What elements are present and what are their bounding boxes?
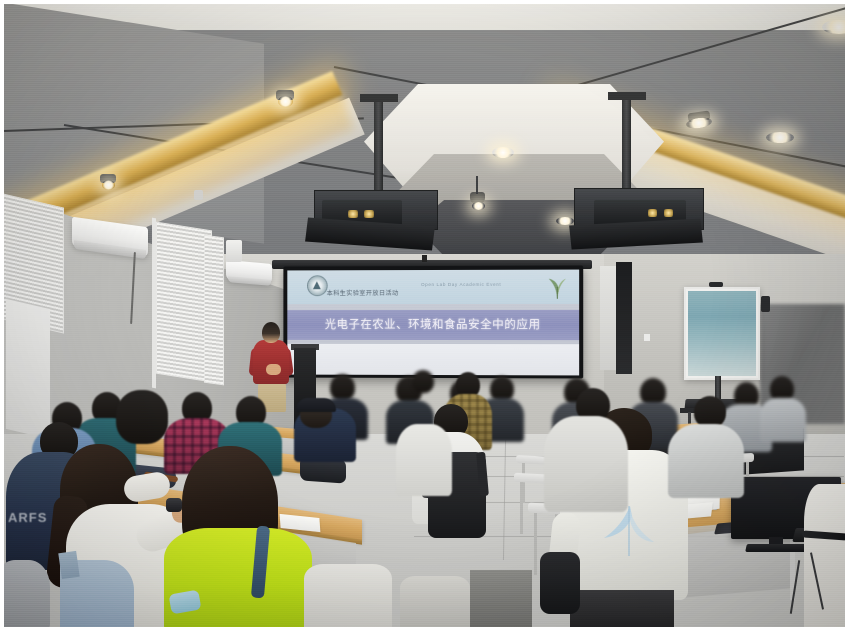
presenter-hands xyxy=(266,364,281,375)
tshirt-graphic-icon xyxy=(600,504,656,558)
monitor-stand-base xyxy=(745,544,809,552)
webcam-icon xyxy=(709,282,723,287)
projector-left-pole xyxy=(374,99,383,199)
wall-display-side-speaker xyxy=(761,296,770,312)
projector-left-lens-1 xyxy=(348,210,358,218)
presenter-shirt xyxy=(253,340,289,384)
spotlight-2 xyxy=(102,180,115,190)
student-body-far-left-bottom xyxy=(4,560,50,627)
green-leaf-emblem-icon xyxy=(545,273,569,299)
photograph-root: Open Lab Day Academic Event 本科生实验室开放日活动 … xyxy=(0,0,849,631)
student-body-yellow-hoodie xyxy=(164,528,312,627)
spotlight-4-hex-lower xyxy=(556,217,574,225)
door-frame-dark xyxy=(616,262,632,374)
student-body-b8 xyxy=(760,398,806,442)
student-body-right-edge xyxy=(668,424,744,498)
projector-right-pole xyxy=(622,99,631,199)
spotlight-1 xyxy=(278,96,293,107)
projection-screen-mount xyxy=(422,255,427,262)
slide-title-chinese: 光电子在农业、环境和食品安全中的应用 xyxy=(287,311,579,339)
spotlight-5-pendant xyxy=(472,202,485,210)
spotlight-8-right-edge xyxy=(766,132,794,143)
student-body-center-bottom-1 xyxy=(304,564,392,627)
wall-display-screen xyxy=(688,291,756,376)
overalls-strap xyxy=(58,551,79,579)
university-emblem-icon xyxy=(307,275,328,296)
student-head-b4 xyxy=(412,370,434,393)
wall-switch-icon xyxy=(644,334,650,341)
bag-on-lap xyxy=(540,552,580,614)
wall-mounted-display[interactable] xyxy=(684,287,760,380)
projector-left-lens-2 xyxy=(364,210,374,218)
projector-left-ceiling-plate xyxy=(360,94,398,102)
projector-right-ceiling-plate xyxy=(608,92,646,100)
student-shorts-white-tshirt xyxy=(570,590,674,627)
ceiling-sensor-icon xyxy=(194,190,203,200)
wall-speaker xyxy=(226,240,242,262)
stool-2-leg-a xyxy=(520,482,523,534)
student-head-b1 xyxy=(330,374,355,401)
photo-frame: Open Lab Day Academic Event 本科生实验室开放日活动 … xyxy=(4,4,845,627)
stool-3-leg-a xyxy=(534,513,537,575)
window-left-lower xyxy=(6,299,50,439)
window-blind-mid-left-2 xyxy=(204,235,224,386)
projection-screen[interactable]: Open Lab Day Academic Event 本科生实验室开放日活动 … xyxy=(283,266,583,379)
student-body-grey-right xyxy=(544,416,628,512)
small-device-in-hand[interactable] xyxy=(166,498,182,512)
spotlight-5-stem xyxy=(476,176,478,194)
slide-header-english: Open Lab Day Academic Event xyxy=(421,282,542,287)
window-frame-divider xyxy=(152,218,156,389)
student-bottom-grey-shorts xyxy=(470,570,532,627)
baseball-cap-icon xyxy=(296,398,336,412)
spotlight-3-hex-center xyxy=(492,147,514,158)
projector-right-lens-2 xyxy=(664,209,673,217)
slide-body-area xyxy=(287,344,579,376)
student-hair-glasses xyxy=(116,390,168,444)
student-body-white-hood xyxy=(396,424,452,496)
student-body-center-bottom-2 xyxy=(400,576,470,627)
presenter-head xyxy=(262,322,280,343)
slide-header-chinese: 本科生实验室开放日活动 xyxy=(327,288,476,297)
projection-screen-surface: Open Lab Day Academic Event 本科生实验室开放日活动 … xyxy=(287,270,579,376)
projector-right-lens-1 xyxy=(648,209,657,217)
